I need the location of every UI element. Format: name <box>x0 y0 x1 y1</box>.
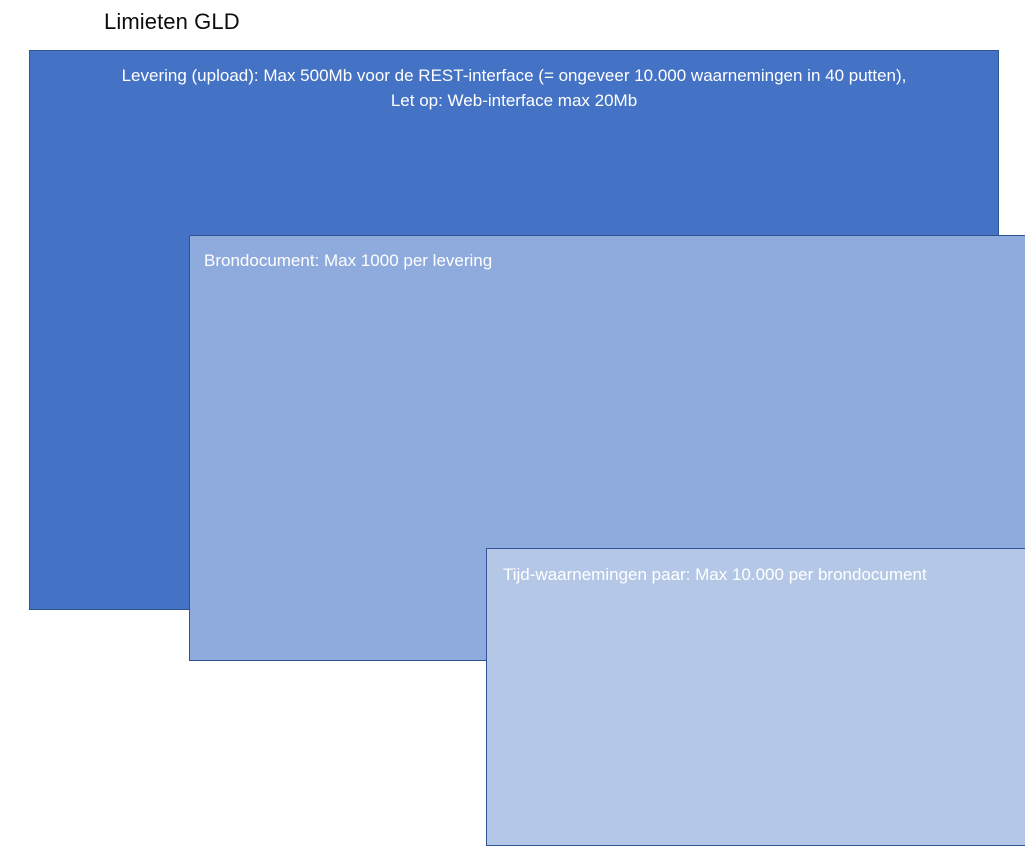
limit-box-levering-text: Levering (upload): Max 500Mb voor de RES… <box>30 63 998 113</box>
limit-box-tijd-waarnemingen-paar-text: Tijd-waarnemingen paar: Max 10.000 per b… <box>487 562 1025 587</box>
limit-box-levering[interactable]: Levering (upload): Max 500Mb voor de RES… <box>29 50 999 610</box>
limit-box-tijd-waarnemingen-paar[interactable]: Tijd-waarnemingen paar: Max 10.000 per b… <box>486 548 1025 846</box>
limit-box-levering-line-1: Levering (upload): Max 500Mb voor de RES… <box>44 63 984 88</box>
page-title: Limieten GLD <box>104 8 240 36</box>
diagram-canvas: Limieten GLD Levering (upload): Max 500M… <box>0 0 1025 638</box>
limit-box-tijd-waarnemingen-paar-line-1: Tijd-waarnemingen paar: Max 10.000 per b… <box>503 562 1025 587</box>
limit-box-levering-line-2: Let op: Web-interface max 20Mb <box>44 88 984 113</box>
limit-box-brondocument-text: Brondocument: Max 1000 per levering <box>190 248 1025 273</box>
limit-box-brondocument[interactable]: Brondocument: Max 1000 per levering Tijd… <box>189 235 1025 661</box>
limit-box-brondocument-line-1: Brondocument: Max 1000 per levering <box>204 248 1014 273</box>
